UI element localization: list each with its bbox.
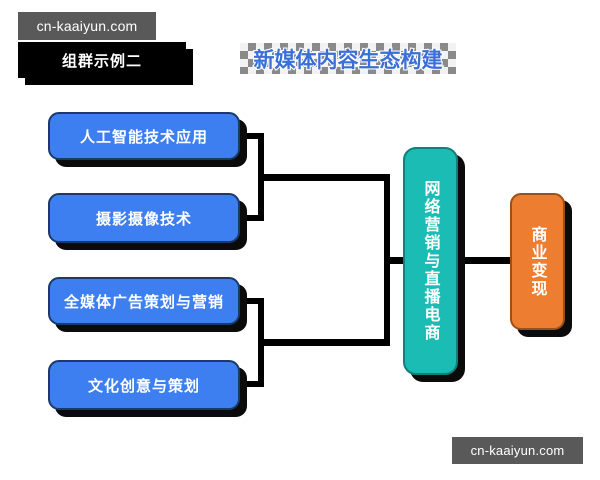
node-online-marketing-livestream[interactable]: 网络营销与直播电商 [403,147,458,375]
group-example-label: 组群示例二 [18,42,186,78]
connector-bracket-top-out [258,174,390,181]
node-label: 全媒体广告策划与营销 [64,291,224,312]
diagram-canvas: cn-kaaiyun.com 组群示例二 新媒体内容生态构建 人工智能技术应用 … [0,0,600,480]
node-ai-technology[interactable]: 人工智能技术应用 [48,112,240,160]
page-title: 新媒体内容生态构建 [254,44,443,74]
node-label: 摄影摄像技术 [96,208,192,229]
node-cultural-creativity[interactable]: 文化创意与策划 [48,360,240,410]
connector-bracket-bottom-out [258,339,390,346]
node-label: 人工智能技术应用 [80,126,208,147]
node-commercial-monetization[interactable]: 商业变现 [510,193,565,330]
watermark-top-left: cn-kaaiyun.com [18,12,156,40]
diagram-title-background: 新媒体内容生态构建 [240,43,456,74]
node-label: 文化创意与策划 [88,375,200,396]
node-photography-videography[interactable]: 摄影摄像技术 [48,193,240,243]
node-omnimedia-advertising[interactable]: 全媒体广告策划与营销 [48,277,240,325]
node-label: 商业变现 [526,226,550,298]
watermark-bottom-right: cn-kaaiyun.com [452,437,583,464]
node-label: 网络营销与直播电商 [419,180,443,342]
